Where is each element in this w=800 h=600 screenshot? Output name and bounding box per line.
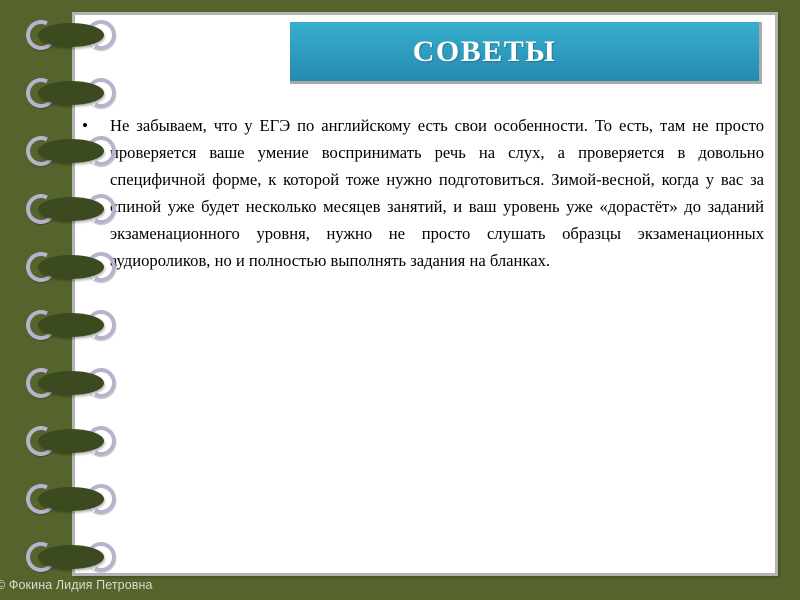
author-credit: © Фокина Лидия Петровна bbox=[0, 578, 153, 592]
binding-ring-hook-left-icon bbox=[22, 132, 60, 170]
page-title: СОВЕТЫ bbox=[413, 35, 637, 69]
binding-ring-hook-left-icon bbox=[22, 538, 60, 576]
bullet-item-text: Не забываем, что у ЕГЭ по английскому ес… bbox=[110, 112, 764, 274]
binding-ring-hook-left-icon bbox=[22, 306, 60, 344]
bullet-list-item: • Не забываем, что у ЕГЭ по английскому … bbox=[78, 112, 764, 274]
binding-ring-hook-left-icon bbox=[22, 480, 60, 518]
binding-ring-hook-left-icon bbox=[22, 190, 60, 228]
binding-ring-hook-left-icon bbox=[22, 16, 60, 54]
binding-ring-hook-left-icon bbox=[22, 364, 60, 402]
slide-paper-sheet bbox=[72, 12, 778, 576]
slide-title-banner: СОВЕТЫ bbox=[290, 22, 762, 84]
slide-body-content: • Не забываем, что у ЕГЭ по английскому … bbox=[78, 112, 764, 274]
binding-ring-hook-left-icon bbox=[22, 422, 60, 460]
presentation-slide: СОВЕТЫ • Не забываем, что у ЕГЭ по англи… bbox=[0, 0, 800, 600]
bullet-point-icon: • bbox=[78, 112, 110, 139]
binding-ring-hook-left-icon bbox=[22, 74, 60, 112]
binding-ring-hook-left-icon bbox=[22, 248, 60, 286]
